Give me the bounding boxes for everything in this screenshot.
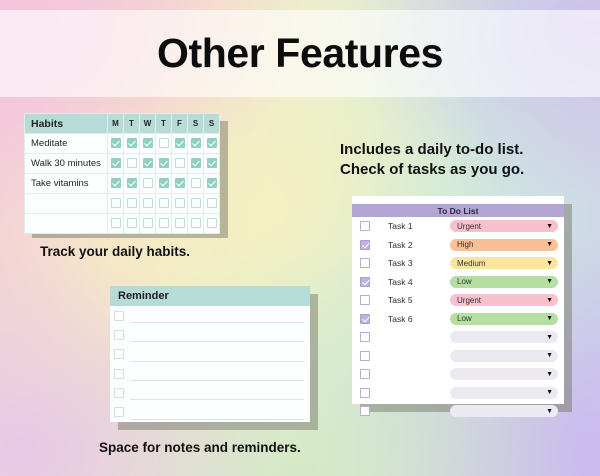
habit-name[interactable]: Take vitamins (25, 174, 108, 194)
habit-check-cell[interactable] (188, 194, 204, 214)
habit-check-cell[interactable] (140, 194, 156, 214)
todo-priority-value: High (457, 240, 473, 249)
todo-row[interactable]: ▼ (352, 347, 564, 366)
checkbox-checked-icon[interactable] (159, 178, 169, 188)
habits-day-header-2: W (140, 114, 156, 134)
todo-row[interactable]: ▼ (352, 365, 564, 384)
habit-check-cell[interactable] (188, 174, 204, 194)
habits-header-row: HabitsMTWTFSS (25, 114, 220, 134)
checkbox-checked-icon[interactable] (111, 138, 121, 148)
habit-check-cell[interactable] (172, 154, 188, 174)
habits-tracker-panel: HabitsMTWTFSSMeditateWalk 30 minutesTake… (24, 113, 220, 230)
reminder-text-field[interactable] (130, 366, 304, 381)
habit-check-cell[interactable] (188, 134, 204, 154)
habit-check-cell[interactable] (156, 194, 172, 214)
habit-name[interactable]: Walk 30 minutes (25, 154, 108, 174)
page-title: Other Features (0, 10, 600, 97)
chevron-down-icon[interactable]: ▼ (546, 315, 553, 322)
checkbox-checked-icon[interactable] (360, 277, 370, 287)
todo-priority-select[interactable]: ▼ (450, 387, 558, 399)
habits-day-header-3: T (156, 114, 172, 134)
habit-check-cell[interactable] (140, 134, 156, 154)
chevron-down-icon[interactable]: ▼ (546, 278, 553, 285)
checkbox-checked-icon[interactable] (175, 178, 185, 188)
checkbox-checked-icon[interactable] (207, 178, 217, 188)
todo-row[interactable]: Task 5Urgent▼ (352, 291, 564, 310)
todo-priority-select[interactable]: ▼ (450, 331, 558, 343)
habit-check-cell[interactable] (124, 174, 140, 194)
todo-task-label[interactable]: Task 1 (388, 221, 450, 231)
checkbox-checked-icon[interactable] (127, 178, 137, 188)
checkbox-empty-icon[interactable] (175, 218, 185, 228)
reminder-row[interactable] (110, 306, 310, 325)
habits-row: Walk 30 minutes (25, 154, 220, 174)
todo-top-strip (352, 196, 564, 204)
checkbox-empty-icon[interactable] (114, 407, 124, 417)
habit-check-cell[interactable] (108, 194, 124, 214)
checkbox-empty-icon[interactable] (191, 198, 201, 208)
todo-priority-value: Low (457, 314, 472, 323)
checkbox-checked-icon[interactable] (207, 138, 217, 148)
habit-check-cell[interactable] (188, 214, 204, 234)
habit-check-cell[interactable] (204, 194, 220, 214)
habit-check-cell[interactable] (172, 214, 188, 234)
reminder-text-field[interactable] (130, 327, 304, 342)
checkbox-checked-icon[interactable] (111, 158, 121, 168)
habit-check-cell[interactable] (204, 214, 220, 234)
checkbox-empty-icon[interactable] (111, 198, 121, 208)
checkbox-checked-icon[interactable] (175, 138, 185, 148)
todo-task-label[interactable]: Task 4 (388, 277, 450, 287)
habits-day-header-6: S (204, 114, 220, 134)
checkbox-empty-icon[interactable] (159, 198, 169, 208)
habit-check-cell[interactable] (156, 154, 172, 174)
chevron-down-icon[interactable]: ▼ (546, 223, 553, 230)
habits-day-header-4: F (172, 114, 188, 134)
todo-task-label[interactable]: Task 5 (388, 295, 450, 305)
checkbox-empty-icon[interactable] (159, 138, 169, 148)
todo-priority-select[interactable]: Medium▼ (450, 257, 558, 269)
habits-row (25, 194, 220, 214)
habit-check-cell[interactable] (204, 134, 220, 154)
checkbox-empty-icon[interactable] (207, 198, 217, 208)
checkbox-empty-icon[interactable] (175, 198, 185, 208)
todo-priority-select[interactable]: Low▼ (450, 313, 558, 325)
todo-priority-value: Urgent (457, 222, 481, 231)
habit-check-cell[interactable] (108, 174, 124, 194)
todo-priority-value: Urgent (457, 296, 481, 305)
reminder-row[interactable] (110, 402, 310, 421)
todo-row[interactable]: Task 2High▼ (352, 236, 564, 255)
todo-task-label[interactable]: Task 6 (388, 314, 450, 324)
reminder-text-field[interactable] (130, 405, 304, 420)
habit-name[interactable]: Meditate (25, 134, 108, 154)
reminder-row[interactable] (110, 364, 310, 383)
reminder-text-field[interactable] (130, 385, 304, 400)
todo-priority-select[interactable]: ▼ (450, 405, 558, 417)
checkbox-checked-icon[interactable] (127, 138, 137, 148)
chevron-down-icon[interactable]: ▼ (546, 371, 553, 378)
checkbox-checked-icon[interactable] (191, 138, 201, 148)
checkbox-empty-icon[interactable] (143, 178, 153, 188)
todo-list-title: To Do List (352, 204, 564, 217)
todo-list-panel: To Do List Task 1Urgent▼Task 2High▼Task … (352, 196, 564, 404)
todo-priority-select[interactable]: Urgent▼ (450, 220, 558, 232)
checkbox-empty-icon[interactable] (127, 218, 137, 228)
habit-name[interactable] (25, 214, 108, 234)
reminder-row[interactable] (110, 383, 310, 402)
checkbox-checked-icon[interactable] (143, 138, 153, 148)
habit-check-cell[interactable] (156, 174, 172, 194)
checkbox-empty-icon[interactable] (191, 178, 201, 188)
habit-check-cell[interactable] (108, 214, 124, 234)
checkbox-checked-icon[interactable] (143, 158, 153, 168)
checkbox-empty-icon[interactable] (191, 218, 201, 228)
habits-caption: Track your daily habits. (40, 244, 190, 259)
habits-day-header-5: S (188, 114, 204, 134)
todo-row[interactable]: Task 1Urgent▼ (352, 217, 564, 236)
checkbox-empty-icon[interactable] (143, 218, 153, 228)
habit-check-cell[interactable] (124, 154, 140, 174)
todo-priority-select[interactable]: Urgent▼ (450, 294, 558, 306)
habit-check-cell[interactable] (140, 154, 156, 174)
habits-title: Habits (25, 114, 108, 134)
checkbox-empty-icon[interactable] (114, 349, 124, 359)
todo-priority-select[interactable]: Low▼ (450, 276, 558, 288)
reminder-caption: Space for notes and reminders. (99, 440, 301, 455)
habits-day-header-0: M (108, 114, 124, 134)
habit-check-cell[interactable] (172, 134, 188, 154)
todo-caption-line-1: Includes a daily to-do list. (340, 140, 524, 160)
checkbox-empty-icon[interactable] (360, 406, 370, 416)
todo-row[interactable]: Task 3Medium▼ (352, 254, 564, 273)
checkbox-empty-icon[interactable] (360, 221, 370, 231)
habits-day-header-1: T (124, 114, 140, 134)
checkbox-empty-icon[interactable] (360, 369, 370, 379)
todo-priority-select[interactable]: ▼ (450, 350, 558, 362)
habit-name[interactable] (25, 194, 108, 214)
checkbox-empty-icon[interactable] (114, 330, 124, 340)
checkbox-empty-icon[interactable] (360, 388, 370, 398)
todo-priority-value: Medium (457, 259, 485, 268)
checkbox-empty-icon[interactable] (360, 295, 370, 305)
reminder-text-field[interactable] (130, 347, 304, 362)
habit-check-cell[interactable] (204, 174, 220, 194)
todo-row[interactable]: Task 6Low▼ (352, 310, 564, 329)
chevron-down-icon[interactable]: ▼ (546, 260, 553, 267)
habit-check-cell[interactable] (156, 214, 172, 234)
reminder-title: Reminder (110, 286, 310, 306)
habit-check-cell[interactable] (204, 154, 220, 174)
reminder-row[interactable] (110, 325, 310, 344)
reminder-panel: Reminder (110, 286, 310, 422)
habit-check-cell[interactable] (188, 154, 204, 174)
habit-check-cell[interactable] (140, 174, 156, 194)
habits-row: Meditate (25, 134, 220, 154)
habit-check-cell[interactable] (108, 154, 124, 174)
habit-check-cell[interactable] (140, 214, 156, 234)
chevron-down-icon[interactable]: ▼ (546, 408, 553, 415)
todo-caption-line-2: Check of tasks as you go. (340, 160, 524, 180)
habits-row (25, 214, 220, 234)
todo-row[interactable]: ▼ (352, 384, 564, 403)
habit-check-cell[interactable] (172, 174, 188, 194)
todo-task-label[interactable]: Task 3 (388, 258, 450, 268)
chevron-down-icon[interactable]: ▼ (546, 241, 553, 248)
checkbox-empty-icon[interactable] (159, 218, 169, 228)
checkbox-empty-icon[interactable] (143, 198, 153, 208)
todo-task-label[interactable]: Task 2 (388, 240, 450, 250)
habits-row: Take vitamins (25, 174, 220, 194)
reminder-row[interactable] (110, 345, 310, 364)
todo-priority-select[interactable]: ▼ (450, 368, 558, 380)
reminder-text-field[interactable] (130, 308, 304, 323)
habit-check-cell[interactable] (108, 134, 124, 154)
checkbox-empty-icon[interactable] (114, 388, 124, 398)
chevron-down-icon[interactable]: ▼ (546, 334, 553, 341)
checkbox-empty-icon[interactable] (360, 332, 370, 342)
checkbox-empty-icon[interactable] (111, 218, 121, 228)
checkbox-checked-icon[interactable] (159, 158, 169, 168)
habit-check-cell[interactable] (124, 134, 140, 154)
checkbox-empty-icon[interactable] (175, 158, 185, 168)
checkbox-empty-icon[interactable] (360, 351, 370, 361)
chevron-down-icon[interactable]: ▼ (546, 389, 553, 396)
checkbox-checked-icon[interactable] (207, 158, 217, 168)
todo-caption: Includes a daily to-do list. Check of ta… (340, 140, 524, 180)
checkbox-empty-icon[interactable] (360, 258, 370, 268)
checkbox-checked-icon[interactable] (191, 158, 201, 168)
todo-priority-value: Low (457, 277, 472, 286)
chevron-down-icon[interactable]: ▼ (546, 297, 553, 304)
checkbox-empty-icon[interactable] (127, 158, 137, 168)
checkbox-checked-icon[interactable] (360, 314, 370, 324)
habit-check-cell[interactable] (124, 214, 140, 234)
checkbox-empty-icon[interactable] (114, 311, 124, 321)
habit-check-cell[interactable] (172, 194, 188, 214)
todo-row[interactable]: Task 4Low▼ (352, 273, 564, 292)
checkbox-empty-icon[interactable] (127, 198, 137, 208)
chevron-down-icon[interactable]: ▼ (546, 352, 553, 359)
habit-check-cell[interactable] (124, 194, 140, 214)
todo-row[interactable]: ▼ (352, 402, 564, 421)
todo-row[interactable]: ▼ (352, 328, 564, 347)
todo-priority-select[interactable]: High▼ (450, 239, 558, 251)
checkbox-checked-icon[interactable] (360, 240, 370, 250)
checkbox-empty-icon[interactable] (114, 369, 124, 379)
checkbox-empty-icon[interactable] (207, 218, 217, 228)
habits-table: HabitsMTWTFSSMeditateWalk 30 minutesTake… (24, 113, 220, 234)
habit-check-cell[interactable] (156, 134, 172, 154)
checkbox-checked-icon[interactable] (111, 178, 121, 188)
